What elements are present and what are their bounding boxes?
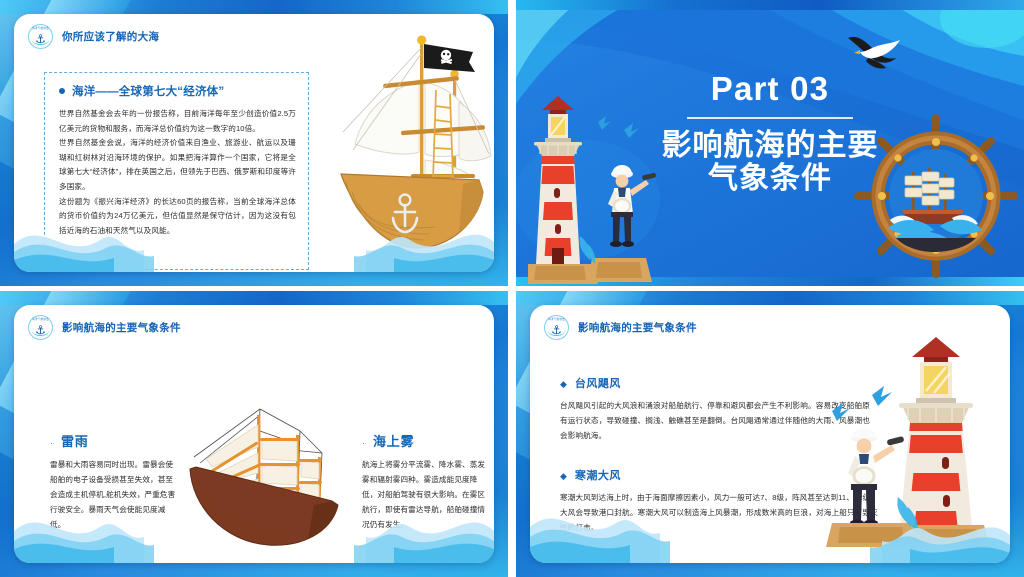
column-thunderstorm: · 雷雨 雷暴和大雨容易同时出现。雷暴会使船舶的电子设备受损甚至失效，甚至会造成… [50,431,178,532]
slide-ocean-economy[interactable]: 海洋气象协会 ⚓ 你所应该了解的大海 海洋——全球第七大“经济体” 世界自然基金… [0,0,508,286]
cover-top-strip [516,0,1024,10]
cover-title-line-1: 影响航海的主要 [516,129,1024,163]
anchor-badge-icon: 海洋气象协会 ⚓ [28,24,53,49]
slide-card: 海洋气象协会 ⚓ 影响航海的主要气象条件 ◆ 台风飓风 台风飓风引起的大风浪和涌… [530,305,1010,563]
column-heading: · 雷雨 [50,431,178,450]
section-heading-text: 台风飓风 [575,375,621,391]
slide-thunder-fog[interactable]: 海洋气象协会 ⚓ 影响航海的主要气象条件 · 雷雨 雷暴和大雨容易同时出现。雷暴… [0,291,508,577]
bullet-tick-icon: · [362,439,365,448]
column-heading: · 海上雾 [362,431,492,450]
slide-card: 海洋气象协会 ⚓ 影响航海的主要气象条件 · 雷雨 雷暴和大雨容易同时出现。雷暴… [14,305,494,563]
slide-header-title: 你所应该了解的大海 [62,29,159,44]
slide-header-title: 影响航海的主要气象条件 [62,320,181,335]
part-label: Part 03 [516,72,1024,105]
seagull-icon [846,28,908,76]
section-heading-text: 海洋——全球第七大“经济体” [72,83,224,99]
diamond-bullet-icon: ◆ [560,380,567,389]
column-body: 雷暴和大雨容易同时出现。雷暴会使船舶的电子设备受损甚至失效，甚至会造成主机停机,… [50,457,178,532]
slide-part-03-cover[interactable]: Part 03 影响航海的主要 气象条件 [516,0,1024,286]
slide-deck-grid: 海洋气象协会 ⚓ 你所应该了解的大海 海洋——全球第七大“经济体” 世界自然基金… [0,0,1024,577]
paragraph: 这份题为《振兴海洋经济》的长达60页的报告称，当前全球海洋总体的货币价值约为24… [59,195,296,239]
column-body: 航海上将雾分平流雾、降水雾、蒸发雾和辐射雾四种。雾造成能见度降低，对船舶驾驶有很… [362,457,492,532]
column-heading-text: 海上雾 [373,431,414,450]
bullet-tick-icon: · [50,439,53,448]
paragraph: 世界自然基金会去年的一份报告称，目前海洋每年至少创造价值2.5万亿美元的货物和服… [59,107,296,136]
badge-logo-text: 海洋气象协会 [545,319,568,322]
slide-header-title: 影响航海的主要气象条件 [578,320,697,335]
top-accent-bar [0,0,508,14]
seagull-icon [832,386,892,421]
lighthouse-illustration [814,333,1004,553]
top-accent-bar [516,291,1024,305]
section-heading-text: 寒潮大风 [575,467,621,483]
slide-header: 海洋气象协会 ⚓ 影响航海的主要气象条件 [544,315,697,340]
top-accent-bar [0,291,508,305]
slide-card: 海洋气象协会 ⚓ 你所应该了解的大海 海洋——全球第七大“经济体” 世界自然基金… [14,14,494,272]
bullet-dot-icon [59,88,65,94]
paragraph: 世界自然基金会说，海洋的经济价值来自渔业、旅游业、航运以及珊瑚和红树林对沿海环境… [59,136,296,194]
anchor-badge-icon: 海洋气象协会 ⚓ [544,315,569,340]
column-sea-fog: · 海上雾 航海上将雾分平流雾、降水雾、蒸发雾和辐射雾四种。雾造成能见度降低，对… [362,431,492,532]
slide-header: 海洋气象协会 ⚓ 影响航海的主要气象条件 [28,315,181,340]
sailing-ship-illustration [182,401,360,551]
badge-logo-text: 海洋气象协会 [29,319,52,322]
slide-header: 海洋气象协会 ⚓ 你所应该了解的大海 [28,24,159,49]
slide-typhoon-coldwave[interactable]: 海洋气象协会 ⚓ 影响航海的主要气象条件 ◆ 台风飓风 台风飓风引起的大风浪和涌… [516,291,1024,577]
badge-logo-text: 海洋气象协会 [29,28,52,31]
title-divider [687,117,853,119]
cover-title-line-2: 气象条件 [516,162,1024,196]
pirate-ship-illustration [283,24,494,272]
anchor-badge-icon: 海洋气象协会 ⚓ [28,315,53,340]
diamond-bullet-icon: ◆ [560,472,567,481]
section-heading: 海洋——全球第七大“经济体” [59,83,296,99]
column-heading-text: 雷雨 [61,431,89,450]
dashed-text-box: 海洋——全球第七大“经济体” 世界自然基金会去年的一份报告称，目前海洋每年至少创… [44,72,309,270]
cover-title-block: Part 03 影响航海的主要 气象条件 [516,72,1024,196]
